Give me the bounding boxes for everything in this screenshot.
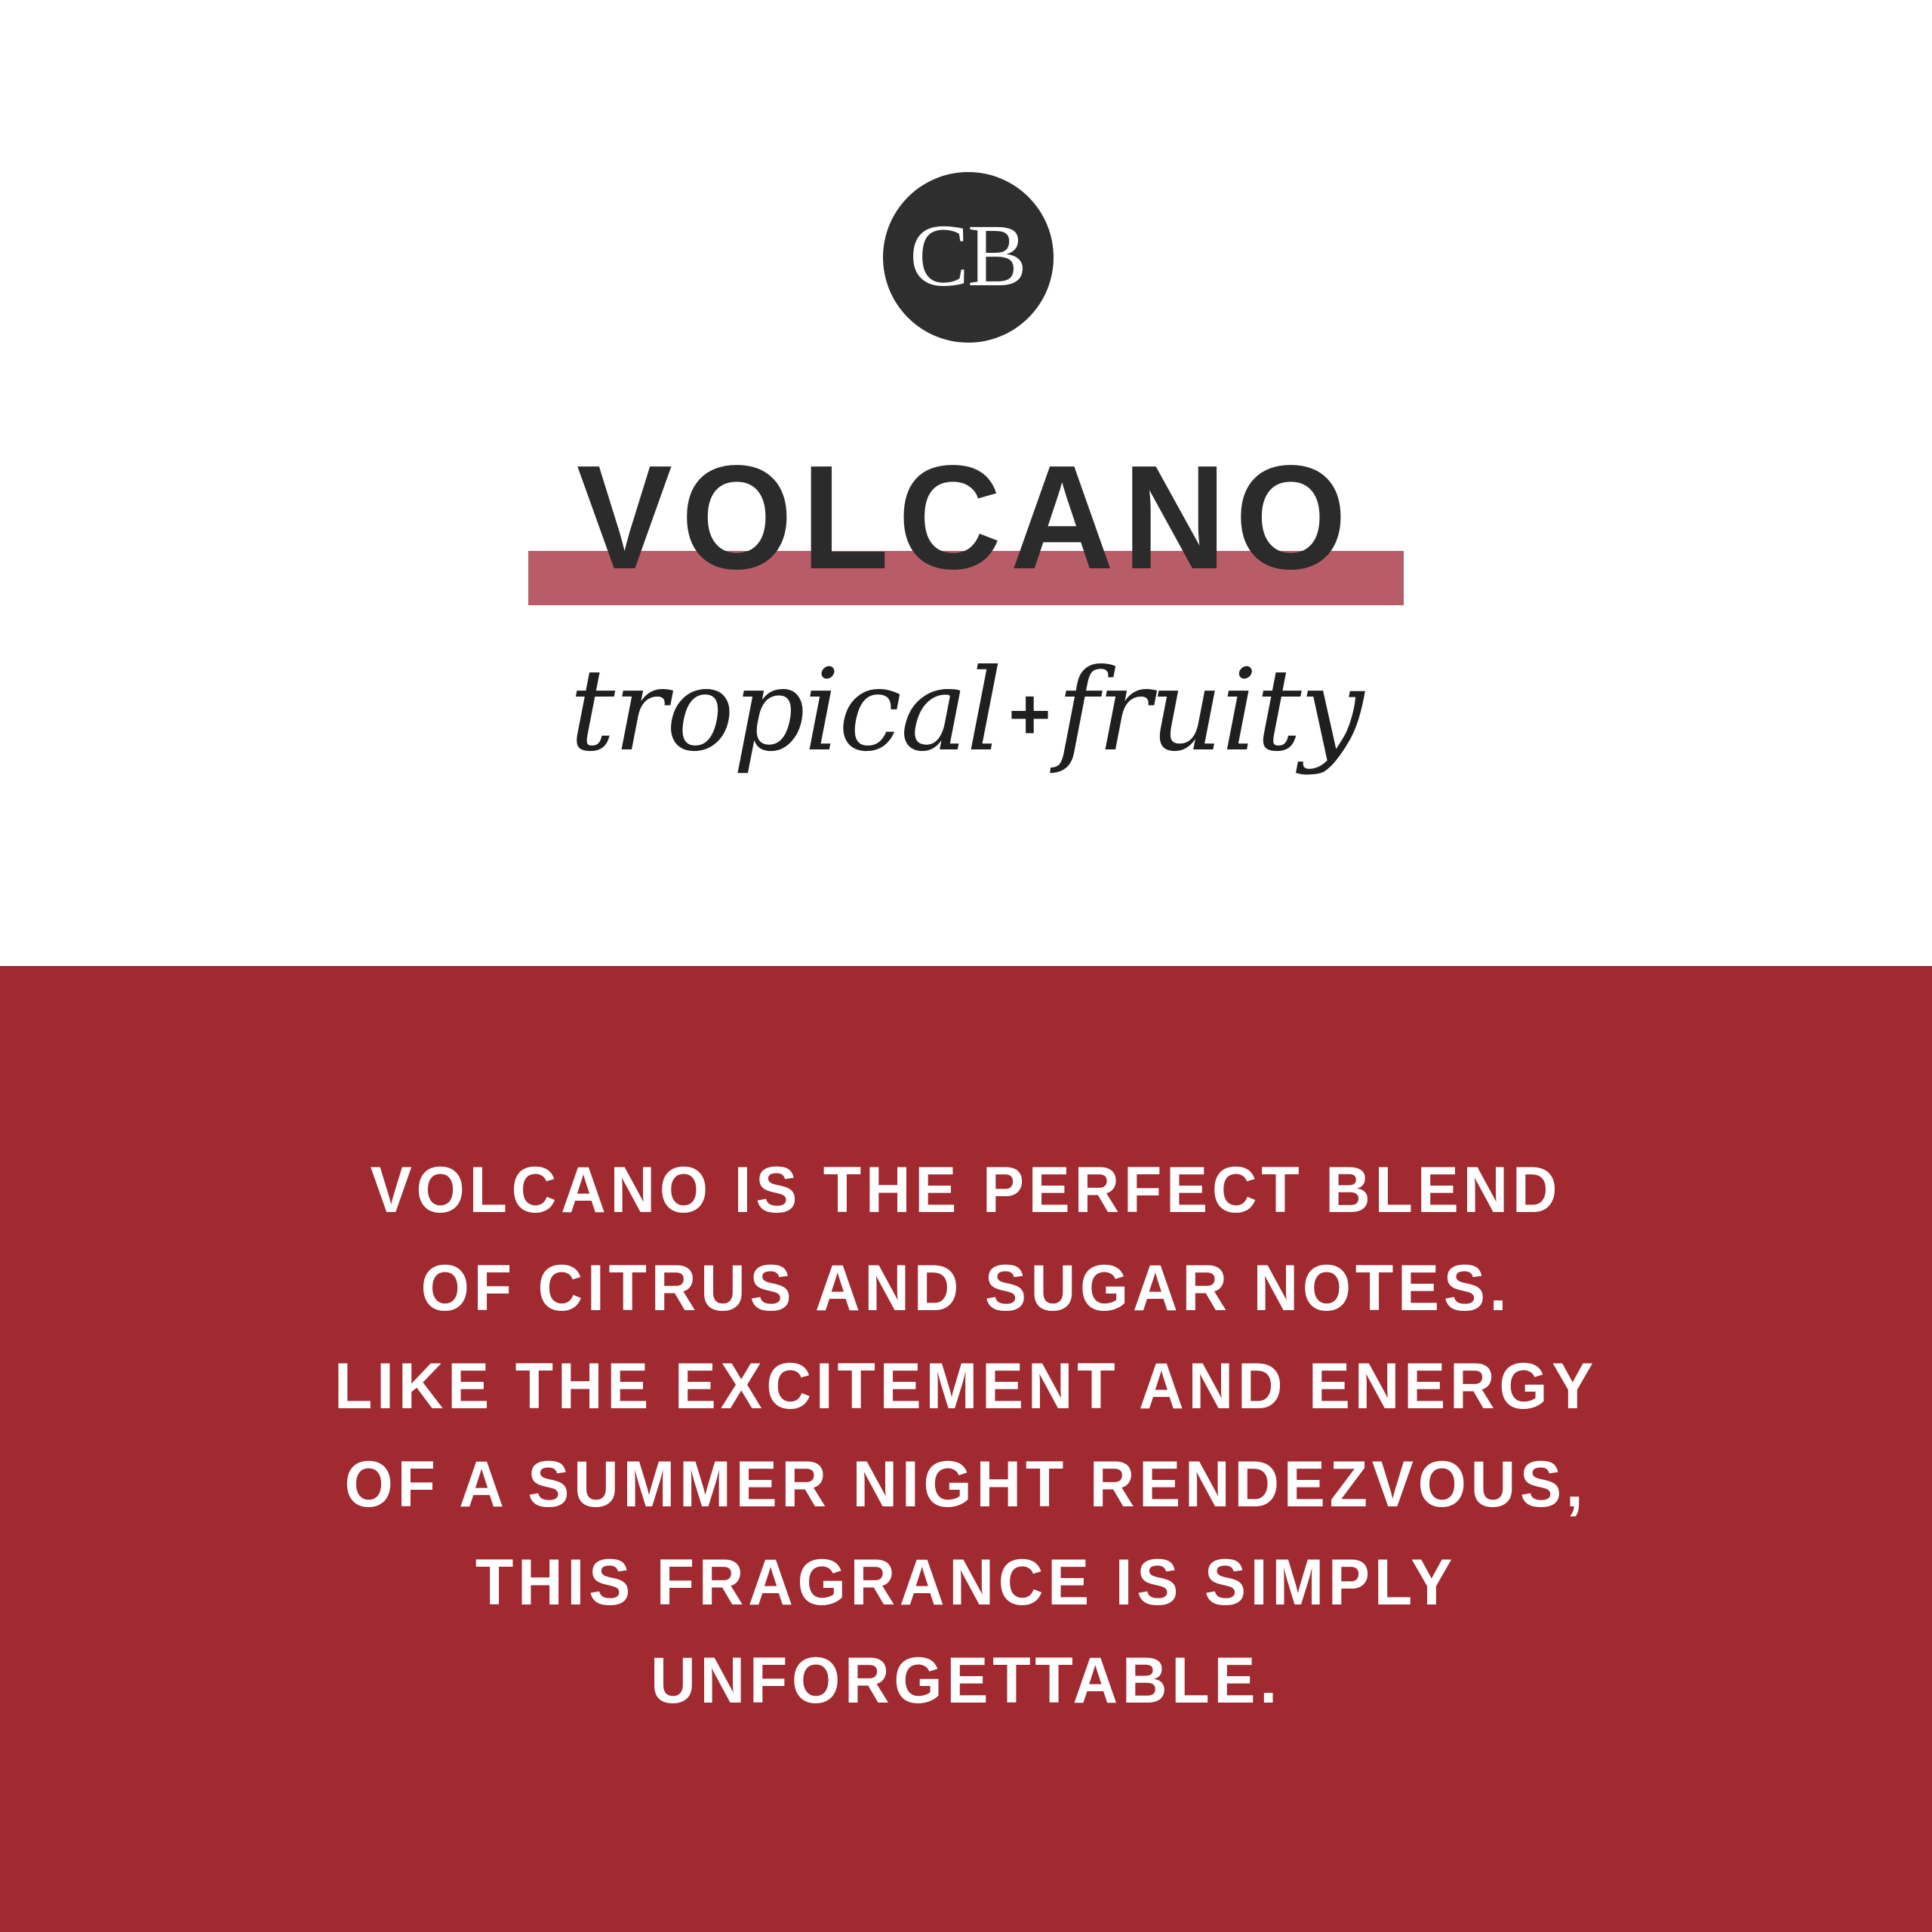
product-title-block: VOLCANO xyxy=(0,450,1932,623)
product-fragrance-card: CB VOLCANO tropical+fruity VOLCANO IS TH… xyxy=(0,0,1932,1932)
description-line: OF CITRUS AND SUGAR NOTES. xyxy=(38,1239,1894,1337)
description-line: UNFORGETTABLE. xyxy=(38,1632,1894,1730)
description-line: VOLCANO IS THE PERFECT BLEND xyxy=(38,1141,1894,1239)
description-line: THIS FRAGRANCE IS SIMPLY xyxy=(38,1534,1894,1632)
description-line: OF A SUMMER NIGHT RENDEZVOUS, xyxy=(38,1435,1894,1534)
brand-monogram-text: CB xyxy=(909,211,1025,300)
tagline-second-word: fruity xyxy=(1057,645,1362,777)
product-tagline: tropical+fruity xyxy=(0,635,1932,790)
description-section: VOLCANO IS THE PERFECT BLEND OF CITRUS A… xyxy=(0,966,1932,1932)
tagline-first-word: tropical xyxy=(570,645,1001,777)
brand-logo-badge: CB xyxy=(883,172,1054,343)
description-text-block: VOLCANO IS THE PERFECT BLEND OF CITRUS A… xyxy=(0,1141,1932,1730)
plus-icon: + xyxy=(1001,674,1057,755)
description-line: LIKE THE EXCITEMENT AND ENERGY xyxy=(38,1337,1894,1435)
hero-section: CB VOLCANO tropical+fruity xyxy=(0,0,1932,966)
page-title: VOLCANO xyxy=(29,450,1903,586)
